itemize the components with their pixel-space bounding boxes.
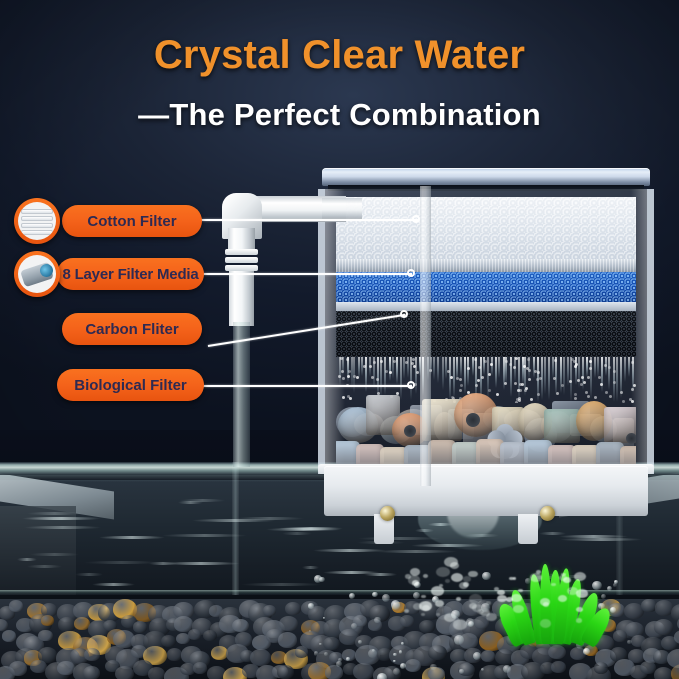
leader-dot-biological — [407, 381, 415, 389]
splash-foam — [551, 583, 555, 586]
water-bubble — [454, 635, 464, 645]
page-title: Crystal Clear Water — [0, 33, 679, 78]
gravel-stone — [594, 662, 608, 673]
callout-label-media: 8 Layer Filter Media — [62, 266, 198, 283]
gravel-stone — [161, 635, 176, 647]
water-bubble — [583, 648, 590, 655]
gravel-stone — [38, 630, 52, 642]
water-droplet — [346, 358, 349, 361]
gravel-stone — [325, 665, 343, 679]
filter-roll-icon-inner — [18, 255, 56, 293]
splash-foam — [444, 557, 458, 567]
water-droplet — [523, 365, 526, 368]
callout-label-biological: Biological Filter — [74, 377, 187, 394]
water-bubble — [338, 658, 342, 662]
bio-media-piece — [544, 409, 580, 443]
water-ripple — [17, 558, 37, 561]
filter-screw-right — [540, 506, 555, 521]
gravel-stone — [353, 663, 374, 679]
intake-pipe-rib-1 — [225, 249, 258, 255]
splash-foam — [413, 603, 422, 610]
water-droplet — [478, 366, 481, 369]
filter-foot-right — [518, 514, 538, 544]
splash-foam — [576, 607, 582, 612]
callout-8-layer-filter-media[interactable]: 8 Layer Filter Media — [57, 258, 204, 290]
water-bubble — [314, 575, 322, 583]
water-bubble — [308, 603, 314, 609]
page-subtitle: —The Perfect Combination — [0, 97, 679, 133]
cotton-pad-icon-inner — [18, 202, 56, 240]
gravel-stone — [9, 661, 27, 676]
water-ripple — [27, 565, 61, 568]
water-bubble — [358, 640, 362, 644]
splash-foam — [567, 587, 578, 595]
gravel-stone — [83, 666, 100, 679]
gravel-stone — [84, 648, 100, 661]
leader-line-media — [196, 273, 412, 275]
leader-line-biological — [196, 385, 412, 387]
splash-foam — [511, 594, 522, 602]
water-droplet — [509, 363, 512, 366]
splash-foam — [421, 595, 426, 599]
water-ripple — [192, 519, 276, 522]
gravel-stone — [405, 659, 421, 672]
leader-dot-media — [407, 269, 415, 277]
splash-foam — [540, 598, 551, 606]
water-droplet — [515, 357, 518, 360]
callout-carbon-filter[interactable]: Carbon Fliter — [62, 313, 202, 345]
water-ripple — [75, 573, 103, 576]
water-bubble — [372, 592, 377, 597]
intake-pipe-submerged — [233, 322, 250, 467]
splash-foam — [421, 613, 425, 616]
gravel-stone — [263, 605, 276, 616]
gravel-stone — [481, 650, 495, 662]
splash-foam — [536, 570, 541, 574]
gravel-stone — [400, 615, 414, 627]
water-droplet — [467, 367, 470, 370]
water-droplet — [363, 365, 366, 368]
water-bubble — [372, 649, 375, 652]
splash-foam — [497, 590, 504, 596]
gravel-stone — [279, 616, 298, 631]
water-droplet — [589, 360, 592, 363]
splash-foam — [423, 574, 428, 578]
ceramic-ring-hole — [626, 433, 636, 444]
water-droplet — [631, 361, 634, 364]
callout-label-cotton: Cotton Filter — [87, 213, 176, 230]
blue-layer-edge — [336, 302, 636, 311]
filter-roll-icon — [14, 251, 60, 297]
water-ripple — [358, 537, 441, 540]
cotton-filter-layer — [336, 197, 636, 259]
splash-foam — [435, 600, 444, 607]
water-bubble — [324, 652, 328, 656]
ceramic-ring-hole — [404, 425, 416, 437]
leader-dot-carbon — [400, 310, 408, 318]
splash-foam — [456, 597, 461, 601]
splash-foam — [405, 574, 411, 578]
splash-foam — [576, 618, 582, 622]
water-ripple — [241, 583, 322, 586]
water-bubble — [610, 607, 616, 613]
gravel-stone — [295, 646, 309, 657]
intake-pipe-rib-2 — [225, 257, 258, 263]
intake-pipe-vertical — [229, 271, 254, 326]
callout-cotton-filter[interactable]: Cotton Filter — [62, 205, 202, 237]
filter-screw-left — [380, 506, 395, 521]
gravel-stone — [115, 666, 134, 679]
ceramic-ring-hole — [466, 413, 480, 427]
fine-pad-layer — [336, 259, 636, 272]
water-ripple — [84, 561, 158, 564]
water-droplet — [571, 358, 574, 361]
water-bubble — [346, 657, 350, 661]
water-bubble — [473, 652, 481, 660]
callout-biological-filter[interactable]: Biological Filter — [57, 369, 204, 401]
water-ripple — [30, 553, 79, 556]
splash-foam — [453, 619, 467, 629]
gravel-stone — [323, 637, 340, 651]
leader-dot-cotton — [412, 215, 420, 223]
intake-pipe-coupler-right — [322, 198, 362, 220]
water-droplet — [604, 364, 607, 367]
gravel-stone — [193, 662, 208, 674]
water-droplet — [505, 360, 508, 363]
gravel-stone — [2, 630, 17, 642]
water-bubble — [349, 593, 355, 599]
splash-foam — [431, 586, 444, 596]
water-ripple — [162, 534, 247, 537]
water-bubble — [601, 594, 606, 599]
water-droplet — [490, 363, 493, 366]
gravel-stone — [9, 600, 23, 611]
leader-line-cotton — [196, 219, 418, 221]
water-bubble — [336, 661, 342, 667]
water-ripple — [99, 536, 165, 539]
water-droplet — [608, 366, 611, 369]
gravel-stone — [277, 665, 293, 678]
callout-label-carbon: Carbon Fliter — [85, 321, 178, 338]
water-bubble — [430, 664, 437, 671]
water-ripple — [302, 566, 319, 569]
gravel-stone — [285, 602, 301, 615]
splash-foam — [451, 573, 463, 582]
gravel-stone — [551, 661, 565, 673]
product-marketing-image: Crystal Clear Water —The Perfect Combina… — [0, 0, 679, 679]
gravel-stone — [148, 667, 166, 679]
water-bubble — [459, 669, 463, 673]
gravel-stone — [133, 621, 147, 633]
cotton-pad-icon — [14, 198, 60, 244]
splash-foam — [445, 579, 450, 583]
water-bubble — [314, 651, 319, 656]
gravel-stone — [57, 661, 74, 675]
gravel-stone — [613, 630, 628, 642]
bio-media-chamber — [336, 373, 636, 473]
water-bubble — [377, 673, 387, 679]
gravel-stone — [278, 632, 297, 647]
water-ripple — [92, 583, 135, 586]
gravel-stone — [232, 619, 249, 633]
splash-foam — [540, 619, 552, 628]
filter-side-strut — [420, 186, 431, 486]
aquarium-plant — [511, 556, 597, 644]
water-ripple — [27, 512, 82, 515]
splash-foam — [436, 613, 439, 615]
gravel-stone — [167, 648, 182, 660]
splash-foam — [486, 601, 491, 604]
water-droplet — [527, 358, 530, 361]
splash-foam — [468, 571, 477, 578]
blue-filter-media-layer — [336, 272, 636, 302]
splash-foam — [481, 610, 490, 617]
gravel-stone — [654, 619, 673, 635]
filter-lid — [322, 168, 650, 186]
water-droplet — [513, 366, 516, 369]
gravel-stone — [428, 645, 447, 660]
water-bubble — [614, 580, 618, 584]
splash-foam — [530, 573, 542, 582]
filter-base-housing — [324, 466, 648, 516]
splash-foam — [563, 577, 570, 583]
splash-foam — [463, 582, 469, 586]
water-ripple — [364, 573, 397, 576]
